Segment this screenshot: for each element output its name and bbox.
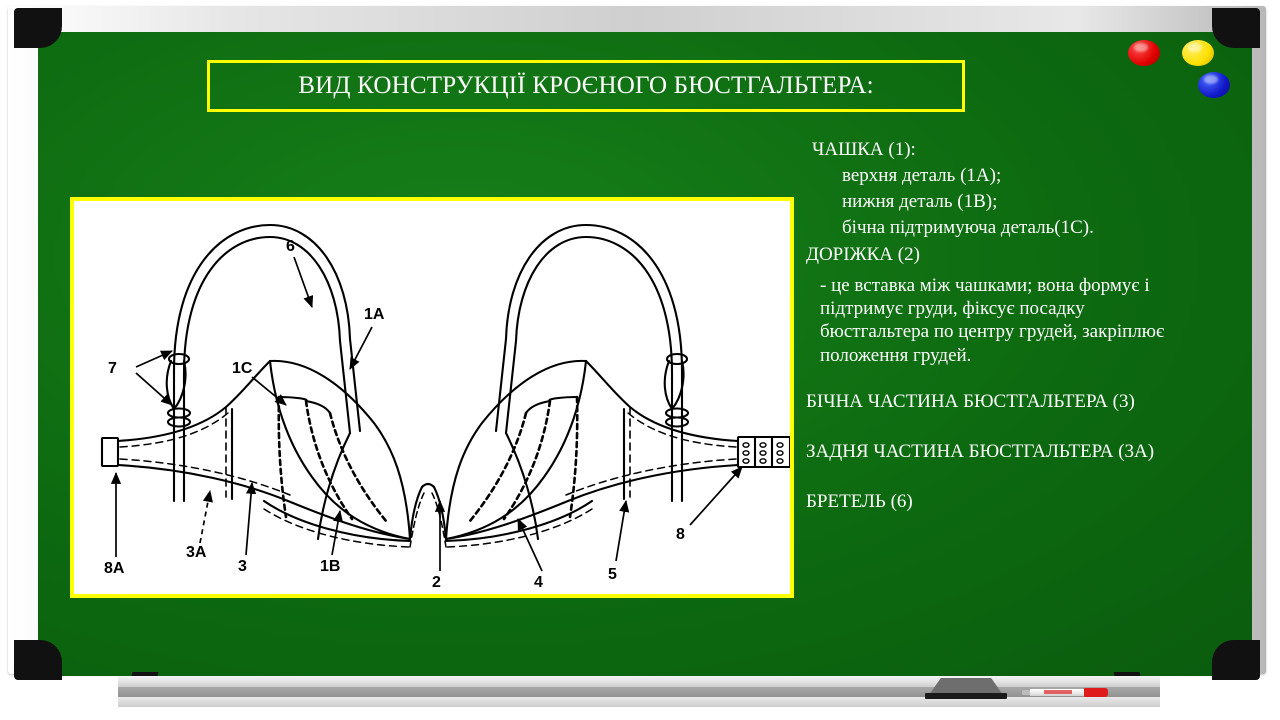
yellow-magnet-icon[interactable] — [1182, 40, 1214, 66]
bra-technical-drawing: 7 6 1A 1C 8A 3A 3 1B 2 4 5 8 — [74, 201, 790, 594]
eraser-felt — [925, 693, 1007, 699]
svg-text:6: 6 — [286, 238, 295, 255]
cup-heading: ЧАШКА (1): — [812, 140, 1274, 159]
back-part-item: ЗАДНЯ ЧАСТИНА БЮСТГАЛЬТЕРА (3А) — [806, 441, 1274, 463]
callout-labels: 7 6 1A 1C 8A 3A 3 1B 2 4 5 8 — [104, 238, 685, 591]
svg-text:1C: 1C — [232, 360, 253, 377]
svg-text:1A: 1A — [364, 306, 385, 323]
cup-part-upper: верхня деталь (1А); — [842, 166, 1274, 185]
red-magnet-icon[interactable] — [1128, 40, 1160, 66]
svg-text:5: 5 — [608, 566, 617, 583]
bridge-description: - це вставка між чашками; вона формує і … — [820, 274, 1192, 367]
svg-text:8A: 8A — [104, 560, 125, 577]
corner-cap-bottom-left — [14, 640, 62, 680]
description-column: ЧАШКА (1): верхня деталь (1А); нижня дет… — [804, 140, 1274, 513]
bridge-heading: ДОРІЖКА (2) — [806, 245, 1274, 264]
svg-text:3: 3 — [238, 558, 247, 575]
corner-cap-top-right — [1212, 8, 1260, 48]
callout-leaders — [116, 257, 742, 571]
corner-cap-bottom-right — [1212, 640, 1260, 680]
side-part-item: БІЧНА ЧАСТИНА БЮСТГАЛЬТЕРА (3) — [806, 391, 1274, 413]
cup-part-side-support: бічна підтримуюча деталь(1С). — [842, 218, 1274, 237]
strap-item: БРЕТЕЛЬ (6) — [806, 491, 1274, 513]
marker-label-band — [1044, 690, 1072, 694]
red-marker-icon[interactable] — [1022, 688, 1108, 697]
page-title: ВИД КОНСТРУКЦІЇ КРОЄНОГО БЮСТГАЛЬТЕРА: — [298, 72, 874, 100]
svg-text:4: 4 — [534, 574, 543, 591]
marker-cap — [1084, 688, 1108, 697]
slide-title-box: ВИД КОНСТРУКЦІЇ КРОЄНОГО БЮСТГАЛЬТЕРА: — [207, 60, 965, 112]
svg-text:8: 8 — [676, 526, 685, 543]
svg-text:2: 2 — [432, 574, 441, 591]
slide-canvas: ВИД КОНСТРУКЦІЇ КРОЄНОГО БЮСТГАЛЬТЕРА: — [0, 0, 1280, 720]
svg-text:7: 7 — [108, 360, 117, 377]
cup-part-lower: нижня деталь (1В); — [842, 192, 1274, 211]
svg-text:1B: 1B — [320, 558, 340, 575]
board-eraser-icon[interactable] — [925, 678, 1007, 700]
svg-text:3A: 3A — [186, 544, 207, 561]
blue-magnet-icon[interactable] — [1198, 72, 1230, 98]
corner-cap-top-left — [14, 8, 62, 48]
bra-construction-diagram: 7 6 1A 1C 8A 3A 3 1B 2 4 5 8 — [70, 197, 794, 598]
